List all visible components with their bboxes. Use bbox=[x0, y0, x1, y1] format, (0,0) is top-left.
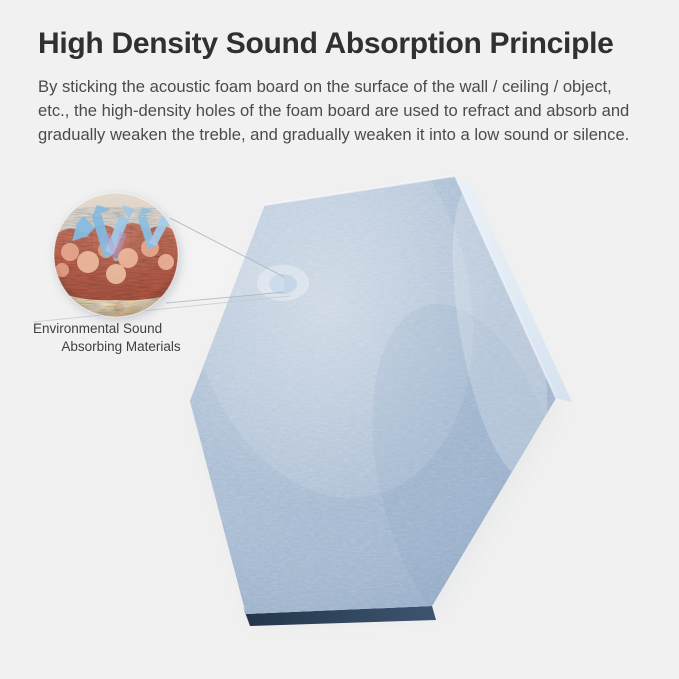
inset-caption-line1: Environmental Sound bbox=[33, 320, 209, 338]
inset-caption: Environmental Sound Absorbing Materials bbox=[33, 320, 209, 356]
page-title: High Density Sound Absorption Principle bbox=[38, 26, 644, 61]
magnifier-circle bbox=[51, 193, 181, 323]
body-paragraph: By sticking the acoustic foam board on t… bbox=[38, 75, 638, 147]
inset-caption-line2: Absorbing Materials bbox=[33, 338, 209, 356]
illustration-canvas: High Density Sound Absorption Principle … bbox=[0, 0, 679, 679]
text-block: High Density Sound Absorption Principle … bbox=[38, 26, 644, 148]
